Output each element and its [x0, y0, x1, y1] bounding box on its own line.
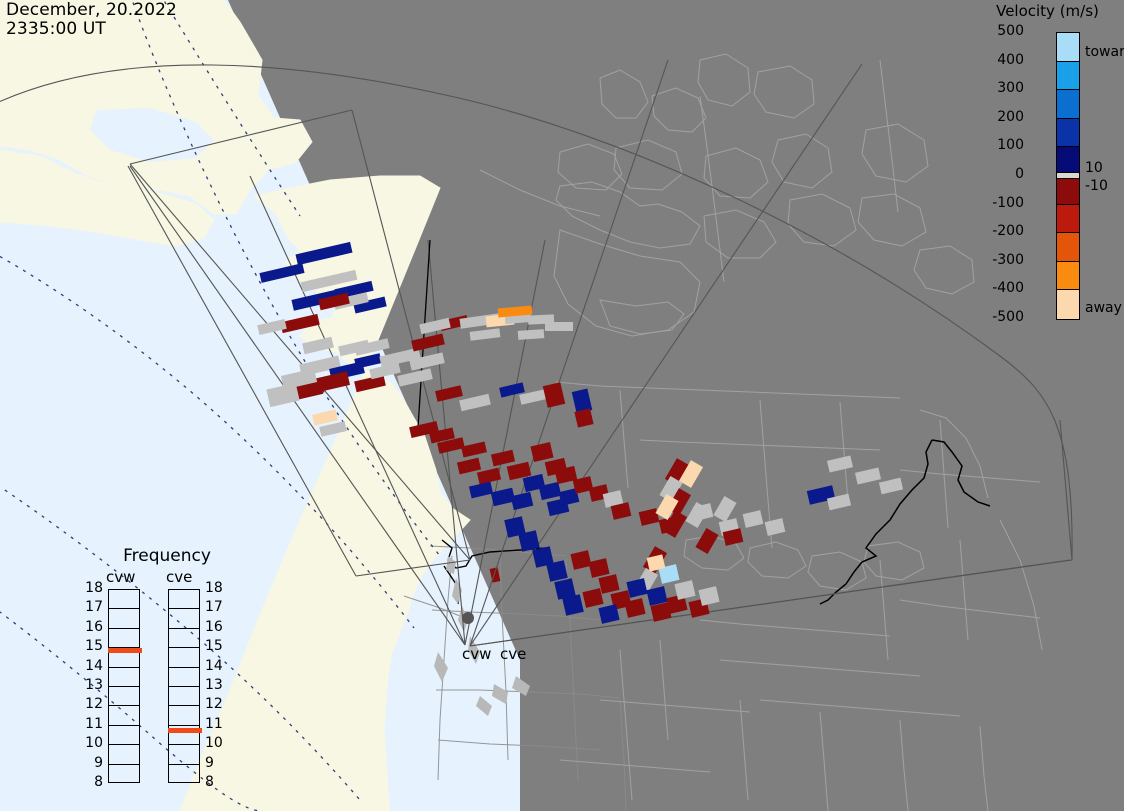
- colorbar-tick: 200: [964, 109, 1024, 125]
- frequency-segment: [169, 629, 199, 648]
- colorbar-tick: 0: [964, 166, 1024, 182]
- frequency-segment: [169, 765, 199, 784]
- frequency-tick: 9: [81, 755, 103, 771]
- colorbar-inner-lower-label: -10: [1085, 178, 1108, 194]
- frequency-title: Frequency: [92, 546, 242, 566]
- frequency-segment: [109, 590, 139, 609]
- frequency-segment: [169, 706, 199, 725]
- frequency-tick: 15: [81, 638, 103, 654]
- frequency-segment: [169, 648, 199, 667]
- colorbar-gradient[interactable]: [1056, 32, 1080, 320]
- colorbar-band: [1057, 62, 1079, 91]
- frequency-tick: 17: [81, 599, 103, 615]
- frequency-segment: [169, 668, 199, 687]
- colorbar-tick: -500: [964, 309, 1024, 325]
- colorbar-band: [1057, 119, 1079, 148]
- frequency-tick: 11: [81, 716, 103, 732]
- frequency-marker-cve: [168, 728, 202, 733]
- colorbar-toward-label: toward: [1085, 44, 1124, 60]
- colorbar-title: Velocity (m/s): [975, 2, 1120, 20]
- frequency-scale-cve[interactable]: [168, 589, 200, 783]
- colorbar-band: [1057, 290, 1079, 319]
- frequency-segment: [109, 745, 139, 764]
- radar-map-screenshot: December, 20.2022 2335:00 UT Velocity (m…: [0, 0, 1124, 811]
- frequency-segment: [109, 765, 139, 784]
- frequency-tick: 10: [81, 735, 103, 751]
- frequency-tick: 14: [205, 658, 227, 674]
- radar-site-marker: [462, 612, 474, 624]
- frequency-tick: 13: [81, 677, 103, 693]
- colorbar-band: [1057, 90, 1079, 119]
- frequency-segment: [169, 687, 199, 706]
- frequency-column-name-cvw: cvw: [106, 568, 135, 586]
- frequency-segment: [169, 745, 199, 764]
- colorbar-tick: 100: [964, 137, 1024, 153]
- frequency-segment: [109, 609, 139, 628]
- site-label-cvw: cvw: [462, 645, 491, 663]
- colorbar-band: [1057, 262, 1079, 291]
- colorbar-tick: 400: [964, 52, 1024, 68]
- frequency-tick: 14: [81, 658, 103, 674]
- frequency-segment: [109, 629, 139, 648]
- frequency-tick: 13: [205, 677, 227, 693]
- colorbar-band: [1057, 205, 1079, 234]
- frequency-tick: 11: [205, 716, 227, 732]
- site-label-cve: cve: [500, 645, 526, 663]
- frequency-tick: 15: [205, 638, 227, 654]
- frequency-tick: 16: [81, 619, 103, 635]
- frequency-segment: [109, 726, 139, 745]
- colorbar-tick: -400: [964, 280, 1024, 296]
- timestamp-label: December, 20.2022 2335:00 UT: [6, 1, 177, 39]
- frequency-segment: [109, 706, 139, 725]
- frequency-tick: 8: [205, 774, 227, 790]
- frequency-tick: 18: [205, 580, 227, 596]
- colorbar-tick: 300: [964, 80, 1024, 96]
- velocity-cell: [518, 329, 545, 340]
- colorbar-band: [1057, 147, 1079, 173]
- velocity-cell: [545, 322, 573, 331]
- frequency-tick: 12: [81, 696, 103, 712]
- velocity-colorbar: Velocity (m/s) 5004003002001000-100-200-…: [975, 0, 1124, 340]
- colorbar-tick: -100: [964, 195, 1024, 211]
- frequency-column-name-cve: cve: [166, 568, 192, 586]
- colorbar-away-label: away: [1085, 300, 1122, 316]
- colorbar-tick: -200: [964, 223, 1024, 239]
- frequency-tick: 12: [205, 696, 227, 712]
- colorbar-band: [1057, 233, 1079, 262]
- frequency-tick: 9: [205, 755, 227, 771]
- frequency-tick: 10: [205, 735, 227, 751]
- frequency-segment: [169, 590, 199, 609]
- frequency-segment: [169, 609, 199, 628]
- colorbar-tick: 500: [964, 23, 1024, 39]
- colorbar-band: [1057, 33, 1079, 62]
- frequency-tick: 18: [81, 580, 103, 596]
- colorbar-tick: -300: [964, 252, 1024, 268]
- colorbar-inner-upper-label: 10: [1085, 160, 1103, 176]
- frequency-marker-cvw: [108, 648, 142, 653]
- frequency-tick: 17: [205, 599, 227, 615]
- frequency-tick: 16: [205, 619, 227, 635]
- frequency-scale-cvw[interactable]: [108, 589, 140, 783]
- frequency-panel: Frequency cvw18171615141312111098cve1817…: [92, 546, 242, 796]
- frequency-tick: 8: [81, 774, 103, 790]
- colorbar-band: [1057, 179, 1079, 205]
- frequency-segment: [109, 668, 139, 687]
- frequency-segment: [109, 687, 139, 706]
